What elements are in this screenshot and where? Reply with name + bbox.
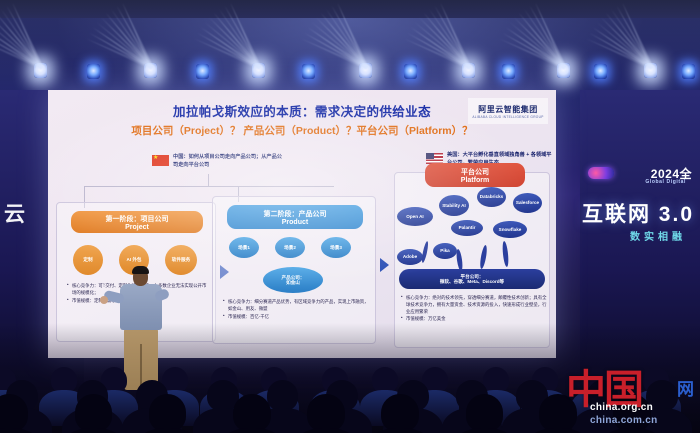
watermark-url-bottom: china.com.cn [590, 415, 658, 426]
arrow-product-to-platform [380, 258, 389, 272]
china-flag-icon [152, 155, 169, 166]
event-tagline: 数实相融 [630, 228, 686, 243]
product-center-line2: 如金山 [286, 280, 300, 285]
connector-rail-left [84, 186, 334, 187]
platform-node-databricks: Databricks [477, 187, 506, 207]
platform-blob-2 [479, 245, 488, 270]
product-header-line1: 第二阶段：产品公司 [264, 209, 327, 219]
platform-center-node: 平台公司： 微软、谷歌、Meta、Discord等 [399, 269, 545, 289]
audience-head [267, 380, 299, 412]
platform-node-palantir: Palantir [451, 220, 483, 236]
product-node-1: 场景2 [275, 237, 305, 258]
product-header-pill: 第二阶段：产品公司 Product [227, 205, 363, 229]
product-bullet-0: 核心竞争力：细分赛道产品优势，有区域竞争力的产品，实现上市融资，如金山、用友、微… [223, 299, 369, 313]
conference-photo-scene: 加拉帕戈斯效应的本质：需求决定的供给业态 项目公司（Project）？ 产品公司… [0, 0, 700, 433]
event-english-text: Global Digital [645, 179, 686, 185]
project-node-0: 定制 [73, 245, 103, 275]
watermark-logo-net: 网 [677, 375, 694, 400]
connector-line-china [208, 174, 209, 186]
audience-head [149, 394, 187, 432]
product-node-2: 场景3 [321, 237, 351, 258]
watermark-url-top: china.org.cn [590, 402, 653, 413]
spotlight-fixture-blue-3 [404, 64, 417, 79]
product-center-node: 产品公司： 如金山 [263, 267, 323, 293]
callout-china-text: 中国：如何从项目公司走向产品公司；从产品公司走向平台公司 [173, 154, 283, 169]
platform-bullets: 核心竞争力：绝对的技术领先，穿透细分赛道，颠覆性技术创新；具有全球技术竞争力，拥… [401, 295, 547, 324]
spotlight-fixture-blue-4 [502, 64, 515, 79]
platform-node-snowflake: Snowflake [493, 221, 527, 238]
speaker-hand-left [100, 296, 108, 304]
watermark-china-org-cn: 中国 网 china.org.cn china.com.cn [562, 355, 696, 429]
project-header-line1: 第一阶段：项目公司 [106, 214, 169, 224]
audience-head [51, 367, 77, 393]
platform-blob-3 [502, 241, 510, 267]
audience-head [381, 394, 419, 432]
platform-node-salesforce: Salesforce [513, 193, 542, 213]
platform-blob-0 [421, 241, 429, 263]
platform-bullet-0: 核心竞争力：绝对的技术领先，穿透细分赛道，颠覆性技术创新；具有全球技术竞争力，拥… [401, 295, 547, 315]
platform-blob-1 [455, 249, 463, 271]
spotlight-fixture-blue-1 [196, 64, 209, 79]
audience-head [372, 367, 398, 393]
alibaba-cloud-logo: 阿里云智能集团 ALIBABA CLOUD INTELLIGENCE GROUP [468, 98, 548, 124]
product-header-line2: Product [282, 219, 308, 226]
audience-head [307, 394, 345, 432]
platform-node-stability: Stability AI [439, 195, 469, 216]
audience-head [75, 394, 113, 432]
product-bullet-1: 市值规模：百亿-千亿 [223, 314, 369, 321]
project-node-2: 软件服务 [165, 245, 197, 275]
platform-header-line2: Platform [461, 177, 489, 184]
brand-name-cn: 阿里云智能集团 [478, 104, 538, 115]
audience-head [233, 394, 271, 432]
callout-china: 中国：如何从项目公司走向产品公司；从产品公司走向平台公司 [152, 154, 283, 169]
platform-center-line2: 微软、谷歌、Meta、Discord等 [440, 279, 504, 284]
spotlight-fixture-blue-2 [302, 64, 315, 79]
platform-header-line1: 平台公司 [461, 167, 489, 177]
platform-header-pill: 平台公司 Platform [425, 163, 525, 187]
overlay-left-char: 云 [4, 198, 27, 228]
stage-card-platform: 平台公司 Platform Open AI Stability AI Datab… [394, 172, 550, 348]
product-bullets: 核心竞争力：细分赛道产品优势，有区域竞争力的产品，实现上市融资，如金山、用友、微… [223, 299, 369, 321]
gdec-logo-icon [588, 167, 614, 179]
platform-node-openai: Open AI [397, 207, 433, 226]
platform-node-pika: Pika [433, 243, 457, 259]
stage-card-product: 第二阶段：产品公司 Product 场景1 场景2 场景3 产品公司： 如金山 … [212, 196, 376, 344]
project-header-pill: 第一阶段：项目公司 Project [71, 211, 203, 233]
audience-head [0, 394, 28, 432]
project-header-line2: Project [125, 224, 149, 231]
brand-name-en: ALIBABA CLOUD INTELLIGENCE GROUP [472, 115, 543, 119]
slide-subtitle: 项目公司（Project）？ 产品公司（Product）？平台公司（Platfo… [48, 123, 556, 138]
audience-head [466, 394, 504, 432]
event-headline: 互联网 3.0 [582, 198, 694, 228]
spotlight-fixture-blue-0 [87, 64, 100, 79]
product-node-0: 场景1 [229, 237, 259, 258]
platform-node-adobe: Adobe [397, 249, 423, 265]
spotlight-fixture-blue-6 [682, 64, 695, 79]
spotlight-fixture-blue-5 [594, 64, 607, 79]
speaker-hair [132, 266, 149, 274]
